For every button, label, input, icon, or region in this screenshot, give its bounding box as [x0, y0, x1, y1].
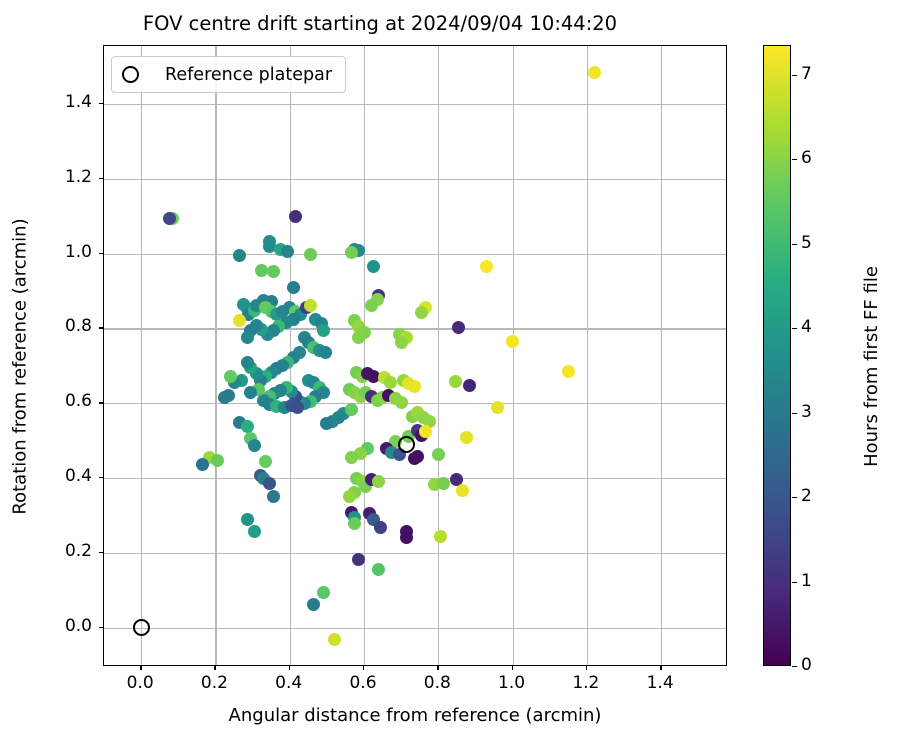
scatter-point — [291, 401, 304, 414]
y-tick-6 — [99, 178, 103, 179]
colorbar-tick-2 — [792, 497, 797, 498]
scatter-point — [506, 335, 519, 348]
scatter-point — [224, 370, 237, 383]
x-tick-label: 0.8 — [407, 673, 467, 693]
scatter-point — [372, 563, 385, 576]
scatter-point — [281, 245, 294, 258]
scatter-point — [411, 450, 424, 463]
scatter-point — [248, 525, 261, 538]
scatter-point — [419, 425, 432, 438]
colorbar-label: Hours from first FF file — [861, 56, 882, 677]
x-tick-label: 1.2 — [556, 673, 616, 693]
scatter-point — [320, 417, 333, 430]
scatter-point — [241, 420, 254, 433]
x-tick-label: 0.6 — [333, 673, 393, 693]
y-tick-4 — [99, 327, 103, 328]
scatter-point — [263, 477, 276, 490]
x-tick-6 — [586, 666, 587, 670]
scatter-point — [317, 586, 330, 599]
scatter-point — [384, 376, 397, 389]
scatter-point — [287, 281, 300, 294]
colorbar-tick-1 — [792, 582, 797, 583]
scatter-point — [372, 475, 385, 488]
scatter-point — [432, 448, 445, 461]
gridline-y-0 — [104, 628, 726, 629]
scatter-point — [241, 513, 254, 526]
gridline-y-4 — [104, 328, 726, 329]
colorbar-tick-5 — [792, 244, 797, 245]
gridline-x-4 — [438, 46, 439, 665]
scatter-point — [345, 403, 358, 416]
gridline-y-3 — [104, 403, 726, 404]
x-tick-label: 0.4 — [259, 673, 319, 693]
scatter-point — [211, 454, 224, 467]
colorbar-tick-4 — [792, 328, 797, 329]
x-tick-3 — [363, 666, 364, 670]
reference-platepar-marker — [133, 619, 150, 636]
scatter-point — [319, 346, 332, 359]
x-axis-label: Angular distance from reference (arcmin) — [103, 705, 727, 726]
scatter-point — [352, 331, 365, 344]
scatter-point — [408, 380, 421, 393]
y-tick-label: 0.4 — [22, 466, 92, 486]
scatter-point — [343, 490, 356, 503]
scatter-point — [460, 431, 473, 444]
x-tick-1 — [214, 666, 215, 670]
scatter-point — [241, 331, 254, 344]
scatter-point — [328, 633, 341, 646]
scatter-point — [267, 490, 280, 503]
colorbar-tick-label: 6 — [801, 148, 812, 168]
scatter-point — [352, 553, 365, 566]
scatter-point — [491, 401, 504, 414]
scatter-point — [449, 375, 462, 388]
figure-canvas: FOV centre drift starting at 2024/09/04 … — [0, 0, 900, 750]
x-tick-label: 0.2 — [184, 673, 244, 693]
gridline-x-0 — [141, 46, 142, 665]
scatter-point — [233, 314, 246, 327]
gridline-y-5 — [104, 254, 726, 255]
scatter-point — [233, 249, 246, 262]
scatter-point — [434, 530, 447, 543]
colorbar-tick-label: 2 — [801, 486, 812, 506]
y-tick-label: 0.6 — [22, 391, 92, 411]
colorbar-tick-0 — [792, 666, 797, 667]
colorbar-tick-7 — [792, 75, 797, 76]
x-tick-label: 0.0 — [110, 673, 170, 693]
y-tick-7 — [99, 103, 103, 104]
legend: Reference platepar — [111, 56, 346, 93]
scatter-point — [307, 598, 320, 611]
y-tick-label: 1.2 — [22, 167, 92, 187]
scatter-point — [374, 521, 387, 534]
x-tick-5 — [512, 666, 513, 670]
scatter-point — [196, 458, 209, 471]
gridline-y-6 — [104, 179, 726, 180]
y-tick-2 — [99, 477, 103, 478]
gridline-y-7 — [104, 104, 726, 105]
scatter-point — [562, 365, 575, 378]
scatter-point — [348, 517, 361, 530]
y-tick-1 — [99, 552, 103, 553]
scatter-point — [345, 451, 358, 464]
scatter-point — [304, 299, 317, 312]
scatter-point — [588, 66, 601, 79]
y-tick-label: 0.2 — [22, 541, 92, 561]
scatter-point — [480, 260, 493, 273]
x-tick-4 — [437, 666, 438, 670]
colorbar-tick-label: 4 — [801, 317, 812, 337]
y-tick-0 — [99, 627, 103, 628]
reference-platepar-marker — [398, 436, 415, 453]
x-tick-0 — [140, 666, 141, 670]
colorbar-tick-label: 5 — [801, 233, 812, 253]
colorbar-tick-label: 7 — [801, 64, 812, 84]
colorbar-tick-label: 3 — [801, 402, 812, 422]
scatter-point — [163, 212, 176, 225]
gridline-x-1 — [215, 46, 216, 665]
scatter-point — [395, 336, 408, 349]
y-tick-3 — [99, 402, 103, 403]
gridline-y-1 — [104, 553, 726, 554]
scatter-point — [259, 455, 272, 468]
x-tick-2 — [289, 666, 290, 670]
y-tick-label: 1.0 — [22, 242, 92, 262]
scatter-point — [241, 356, 254, 369]
x-tick-label: 1.4 — [630, 673, 690, 693]
scatter-point — [365, 299, 378, 312]
scatter-point — [244, 386, 257, 399]
open-circle-icon — [122, 66, 139, 83]
scatter-point — [456, 484, 469, 497]
colorbar-tick-3 — [792, 413, 797, 414]
scatter-point — [248, 439, 261, 452]
scatter-point — [395, 396, 408, 409]
x-tick-label: 1.0 — [482, 673, 542, 693]
y-tick-label: 0.0 — [22, 616, 92, 636]
scatter-point — [415, 306, 428, 319]
scatter-point — [437, 477, 450, 490]
scatter-point — [289, 210, 302, 223]
gridline-x-3 — [364, 46, 365, 665]
colorbar-tick-label: 0 — [801, 655, 812, 675]
scatter-point — [304, 248, 317, 261]
scatter-point — [367, 260, 380, 273]
colorbar-tick-label: 1 — [801, 571, 812, 591]
x-tick-7 — [660, 666, 661, 670]
plot-area — [103, 45, 727, 666]
scatter-point — [400, 531, 413, 544]
gridline-y-2 — [104, 478, 726, 479]
colorbar-gradient — [763, 45, 791, 666]
y-tick-label: 1.4 — [22, 92, 92, 112]
gridline-x-6 — [587, 46, 588, 665]
legend-entry-label: Reference platepar — [165, 65, 332, 85]
y-axis-label: Rotation from reference (arcmin) — [10, 55, 31, 679]
scatter-point — [218, 391, 231, 404]
scatter-point — [452, 321, 465, 334]
colorbar — [763, 45, 791, 666]
gridline-x-7 — [661, 46, 662, 665]
scatter-point — [317, 324, 330, 337]
y-tick-label: 0.8 — [22, 316, 92, 336]
y-tick-5 — [99, 253, 103, 254]
colorbar-tick-6 — [792, 159, 797, 160]
scatter-point — [463, 379, 476, 392]
scatter-point — [267, 265, 280, 278]
gridline-x-5 — [513, 46, 514, 665]
scatter-point — [345, 246, 358, 259]
page-title: FOV centre drift starting at 2024/09/04 … — [0, 12, 760, 35]
